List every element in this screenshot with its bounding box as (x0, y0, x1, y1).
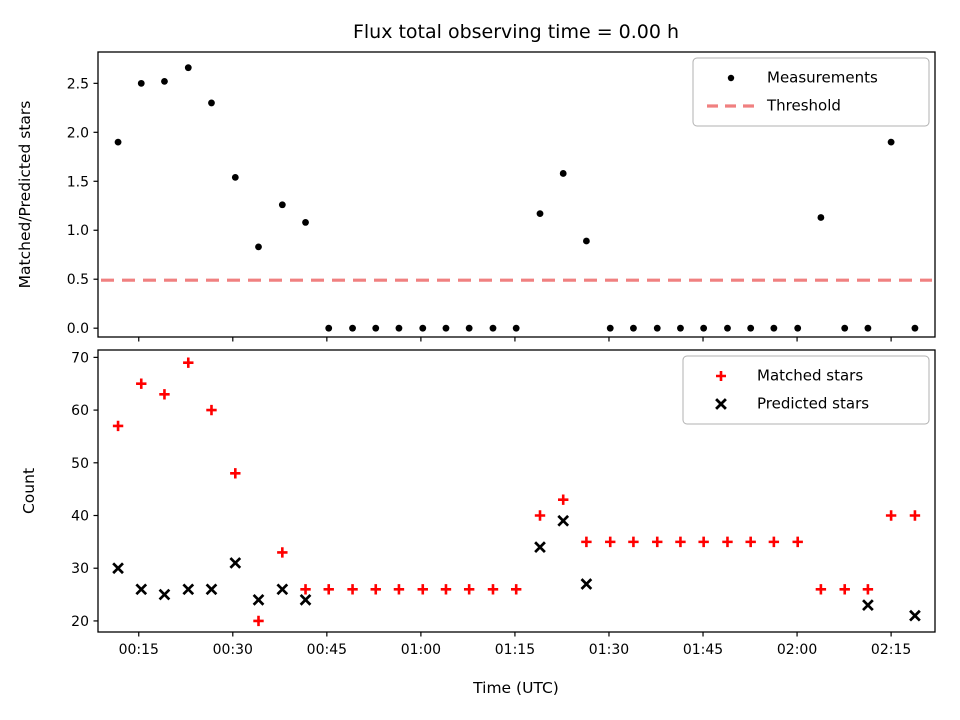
data-point-dot (302, 219, 309, 226)
legend-label: Measurements (767, 69, 878, 87)
data-point-dot (466, 325, 473, 332)
data-point-dot (630, 325, 637, 332)
x-tick-label: 01:00 (401, 642, 441, 658)
x-tick-label: 01:30 (589, 642, 629, 658)
x-tick-label: 02:15 (871, 642, 911, 658)
data-point-dot (185, 64, 192, 71)
data-point-dot (372, 325, 379, 332)
x-tick-label: 01:15 (495, 642, 535, 658)
data-point-dot (138, 80, 145, 87)
data-point-dot (747, 325, 754, 332)
data-point-dot (208, 100, 215, 107)
y-tick-label: 30 (71, 561, 89, 577)
data-point-dot (583, 238, 590, 245)
x-tick-label: 00:30 (213, 642, 253, 658)
x-axis-label: Time (UTC) (472, 679, 559, 697)
data-point-dot (349, 325, 356, 332)
y-tick-label: 2.0 (67, 125, 89, 141)
matplotlib-figure: Flux total observing time = 0.00 h 0.00.… (0, 0, 960, 720)
y-tick-label: 0.0 (67, 321, 89, 337)
data-point-dot (724, 325, 731, 332)
data-point-dot (794, 325, 801, 332)
data-point-dot (419, 325, 426, 332)
x-tick-label: 01:45 (683, 642, 723, 658)
data-point-dot (770, 325, 777, 332)
legend-marker-dot (728, 75, 734, 81)
x-tick-label: 00:15 (119, 642, 159, 658)
legend-label: Predicted stars (757, 395, 869, 413)
data-point-dot (560, 170, 567, 177)
y-tick-label: 2.5 (67, 76, 89, 92)
chart-canvas: Flux total observing time = 0.00 h 0.00.… (0, 0, 960, 720)
data-point-dot (537, 210, 544, 217)
data-point-dot (865, 325, 872, 332)
data-point-dot (841, 325, 848, 332)
figure-title: Flux total observing time = 0.00 h (353, 21, 679, 43)
data-point-dot (279, 201, 286, 208)
data-point-dot (677, 325, 684, 332)
y-tick-label: 60 (71, 403, 89, 419)
y-tick-label: 1.0 (67, 223, 89, 239)
data-point-dot (912, 325, 919, 332)
data-point-dot (255, 243, 262, 250)
legend-label: Matched stars (757, 367, 863, 385)
data-point-dot (490, 325, 497, 332)
data-point-dot (607, 325, 614, 332)
data-point-dot (888, 139, 895, 146)
x-tick-label: 02:00 (777, 642, 817, 658)
legend: MeasurementsThreshold (693, 58, 929, 126)
data-point-dot (161, 78, 168, 85)
data-point-dot (654, 325, 661, 332)
y-axis-label: Count (20, 468, 38, 514)
y-tick-label: 20 (71, 614, 89, 630)
x-tick-label: 00:45 (307, 642, 347, 658)
y-tick-label: 50 (71, 456, 89, 472)
data-point-dot (115, 139, 122, 146)
legend: Matched starsPredicted stars (683, 356, 929, 424)
data-point-dot (396, 325, 403, 332)
data-point-dot (817, 214, 824, 221)
y-tick-label: 0.5 (67, 272, 89, 288)
y-tick-label: 70 (71, 350, 89, 366)
data-point-dot (232, 174, 239, 181)
y-tick-label: 40 (71, 509, 89, 525)
y-tick-label: 1.5 (67, 174, 89, 190)
data-point-dot (513, 325, 520, 332)
y-axis-label: Matched/Predicted stars (16, 101, 34, 289)
legend-label: Threshold (766, 97, 841, 115)
data-point-dot (325, 325, 332, 332)
data-point-dot (443, 325, 450, 332)
data-point-dot (700, 325, 707, 332)
